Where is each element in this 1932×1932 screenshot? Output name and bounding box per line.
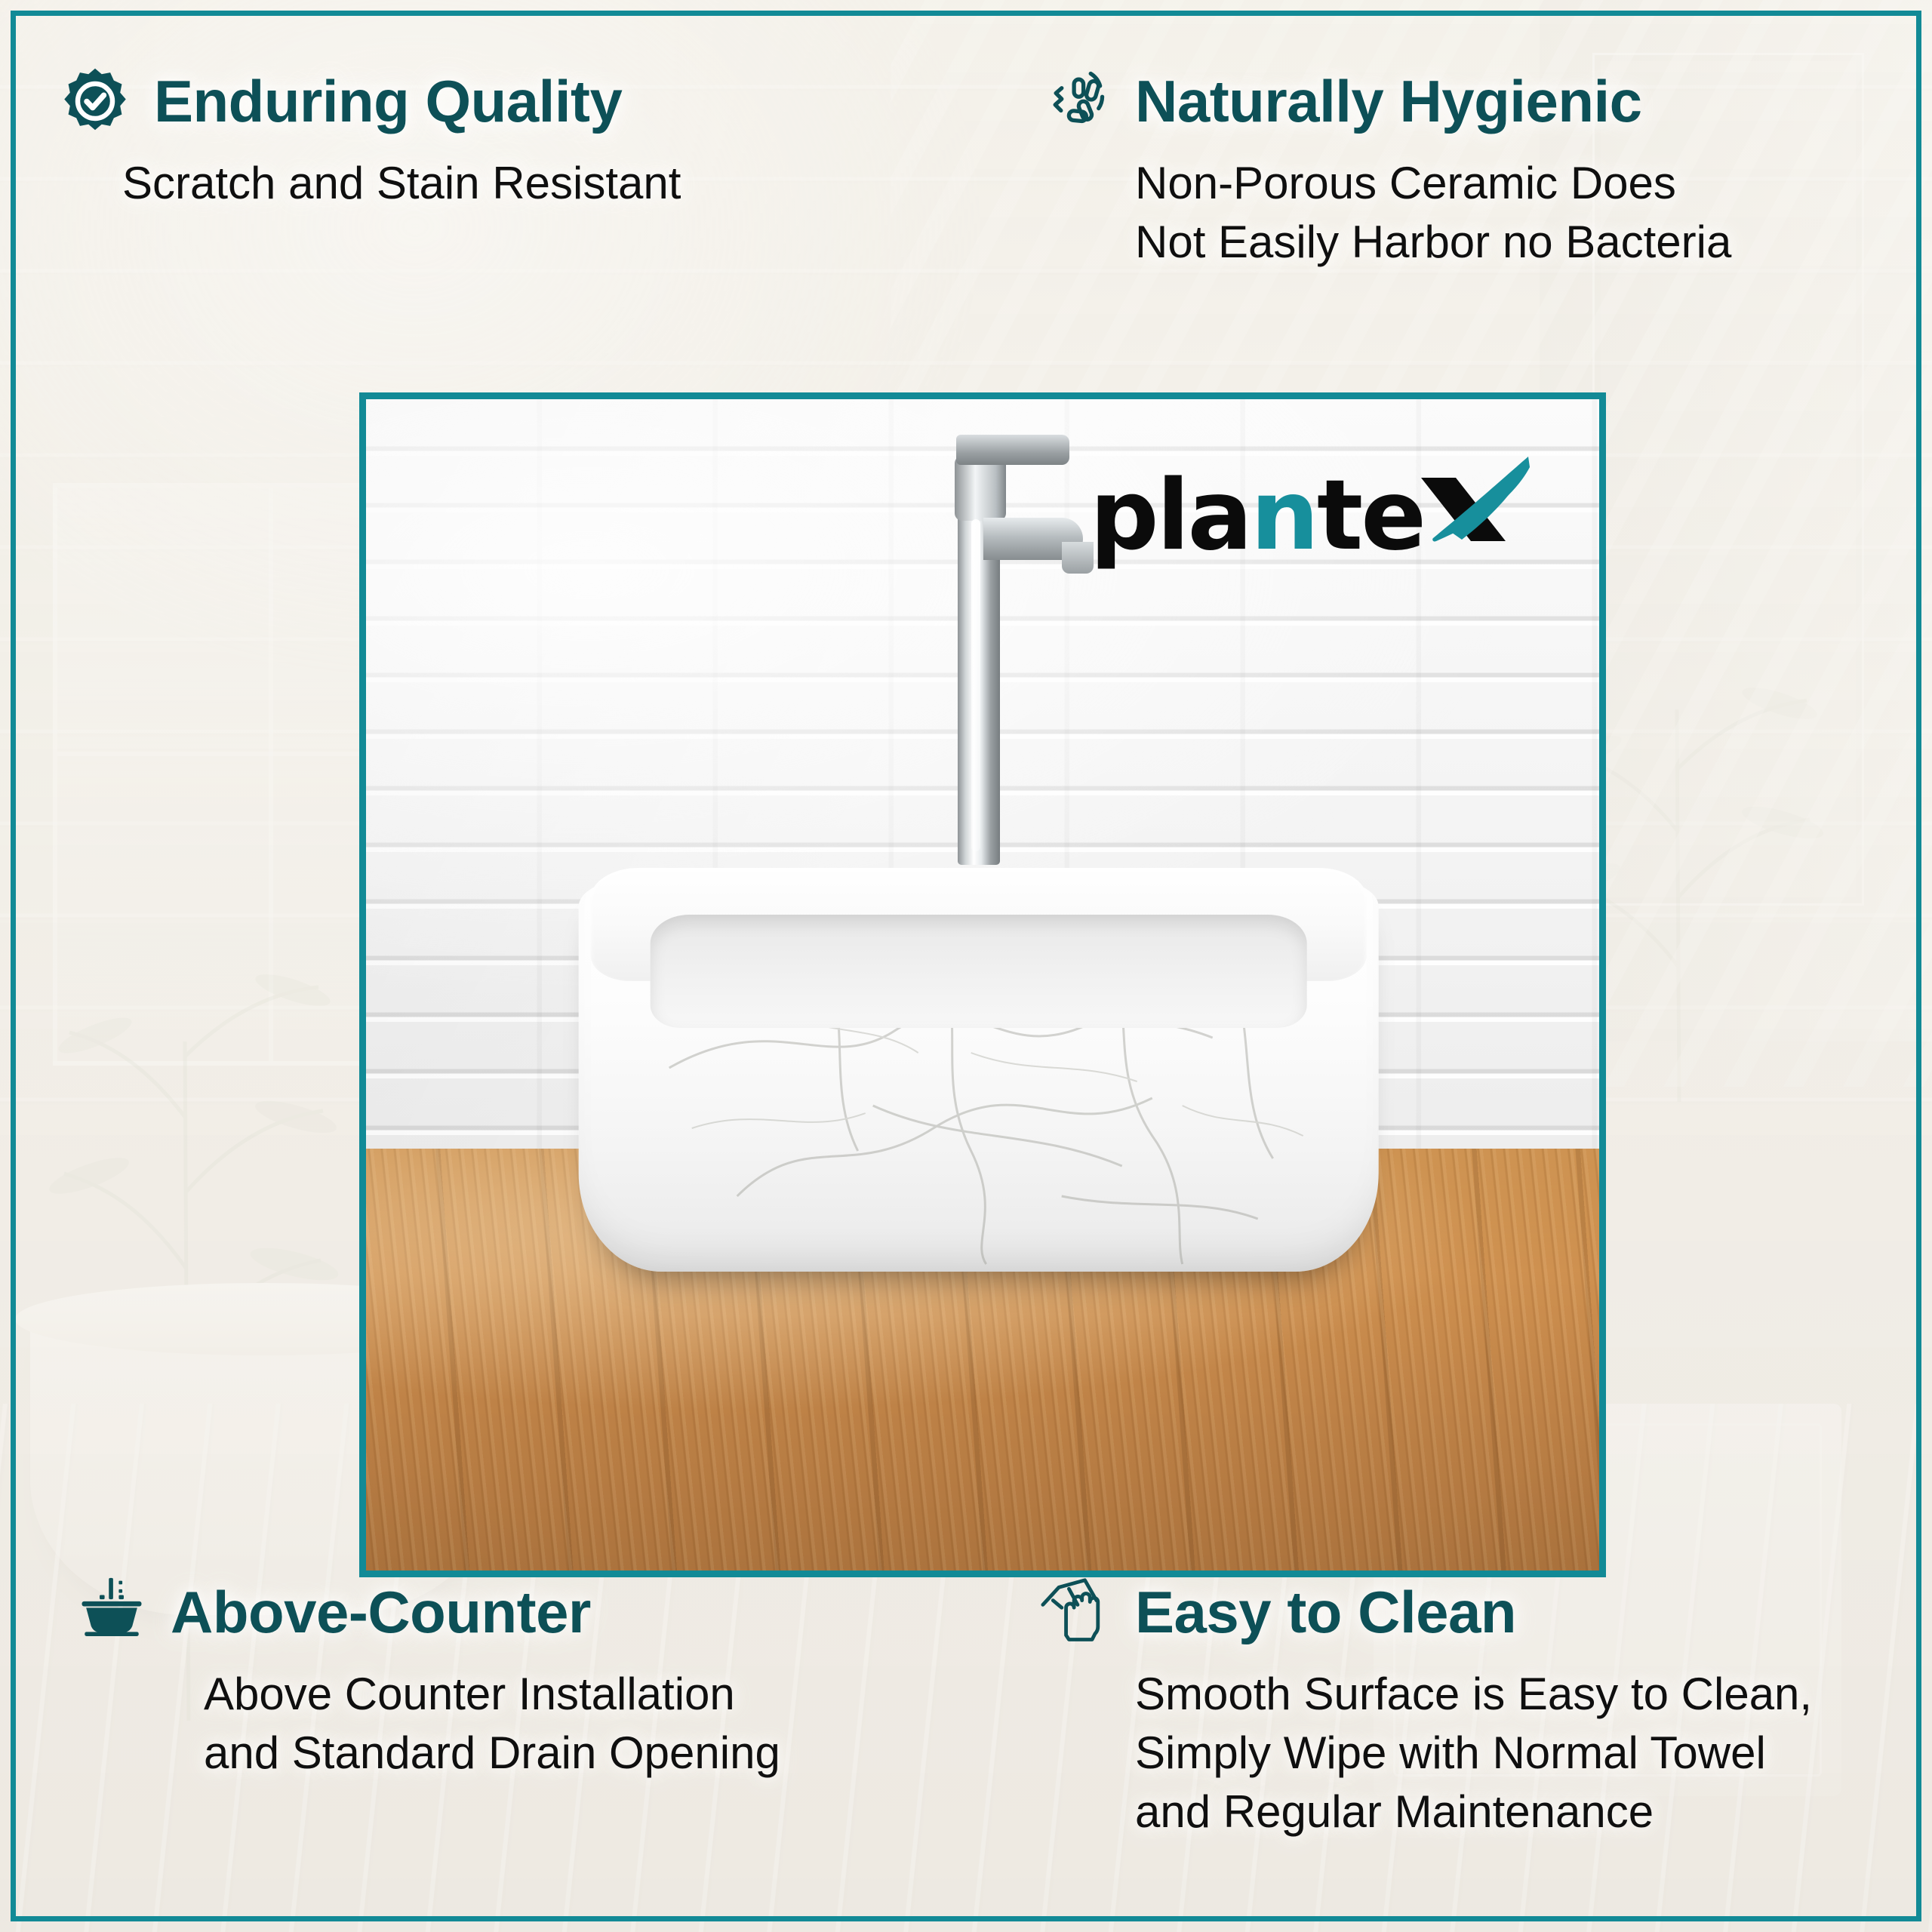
feature-naturally-hygienic: Naturally Hygienic Non-Porous Ceramic Do…: [1040, 65, 1731, 272]
bacteria-icon: [1040, 65, 1112, 137]
feature-body: Non-Porous Ceramic Does Not Easily Harbo…: [1135, 154, 1731, 272]
feature-heading-row: Above-Counter: [75, 1576, 780, 1648]
product-photo-panel: plante: [359, 392, 1606, 1577]
feature-body: Above Counter Installation and Standard …: [204, 1665, 780, 1783]
feature-body-line: and Standard Drain Opening: [204, 1724, 780, 1783]
feature-body-line: Scratch and Stain Resistant: [122, 154, 681, 213]
feature-title: Easy to Clean: [1135, 1583, 1516, 1641]
feature-enduring-quality: Enduring Quality Scratch and Stain Resis…: [59, 65, 681, 213]
feature-body-line: Above Counter Installation: [204, 1665, 780, 1724]
feature-body: Scratch and Stain Resistant: [122, 154, 681, 213]
product-feature-banner: Enduring Quality Scratch and Stain Resis…: [0, 0, 1932, 1932]
feature-above-counter: Above-Counter Above Counter Installation…: [75, 1576, 780, 1783]
quality-badge-icon: [59, 65, 131, 137]
feature-easy-to-clean: Easy to Clean Smooth Surface is Easy to …: [1040, 1576, 1812, 1841]
feature-body: Smooth Surface is Easy to Clean, Simply …: [1135, 1665, 1812, 1841]
logo-x-swoosh-icon: [1417, 451, 1530, 549]
feature-body-line: Simply Wipe with Normal Towel: [1135, 1724, 1812, 1783]
feature-body-line: Non-Porous Ceramic Does: [1135, 154, 1731, 213]
feature-heading-row: Naturally Hygienic: [1040, 65, 1731, 137]
feature-body-line: and Regular Maintenance: [1135, 1783, 1812, 1841]
ceramic-wash-basin: [579, 879, 1379, 1272]
feature-title: Naturally Hygienic: [1135, 72, 1642, 131]
product-photo: plante: [366, 399, 1599, 1571]
feature-heading-row: Enduring Quality: [59, 65, 681, 137]
logo-text: plante: [1090, 468, 1424, 565]
feature-body-line: Smooth Surface is Easy to Clean,: [1135, 1665, 1812, 1724]
hand-wipe-icon: [1040, 1576, 1112, 1648]
feature-title: Above-Counter: [171, 1583, 591, 1641]
basin-faucet-icon: [75, 1576, 148, 1648]
plantex-logo: plante: [1090, 451, 1530, 565]
feature-heading-row: Easy to Clean: [1040, 1576, 1812, 1648]
feature-body-line: Not Easily Harbor no Bacteria: [1135, 213, 1731, 272]
chrome-faucet: [911, 429, 1084, 881]
feature-title: Enduring Quality: [154, 72, 622, 131]
